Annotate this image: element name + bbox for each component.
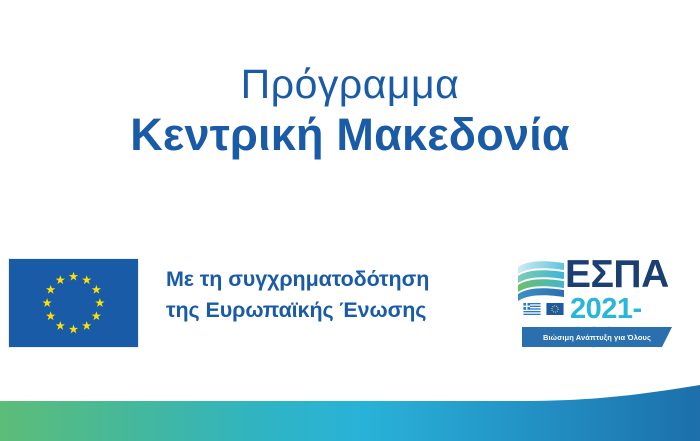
eu-funding-line-2: της Ευρωπαϊκής Ένωσης	[166, 295, 506, 326]
eu-flag-icon	[8, 258, 139, 348]
logo-strip: Με τη συγχρηματοδότηση της Ευρωπαϊκής Έν…	[0, 252, 700, 357]
espa-waves-icon	[516, 259, 566, 303]
espa-logo-mid-row: 2021-2027	[516, 298, 684, 326]
eu-funding-line-1: Με τη συγχρηματοδότηση	[166, 264, 506, 295]
title-line-program: Πρόγραμμα	[0, 62, 700, 106]
title-line-region: Κεντρική Μακεδονία	[0, 110, 700, 160]
bottom-gradient-bar	[0, 385, 700, 441]
espa-tagline-text: Βιώσιμη Ανάπτυξη για Όλους	[522, 327, 672, 347]
espa-logo: ΕΣΠΑ	[516, 252, 684, 352]
espa-wordmark: ΕΣΠΑ	[565, 255, 669, 294]
greece-flag-icon	[522, 302, 542, 316]
eu-funding-text: Με τη συγχρηματοδότηση της Ευρωπαϊκής Έν…	[166, 264, 506, 325]
eu-mini-flag-icon	[545, 302, 565, 316]
mini-flags-group	[522, 302, 565, 316]
espa-tagline-banner: Βιώσιμη Ανάπτυξη για Όλους	[522, 327, 672, 347]
espa-program-banner: Πρόγραμμα Κεντρική Μακεδονία	[0, 0, 700, 441]
page-title: Πρόγραμμα Κεντρική Μακεδονία	[0, 62, 700, 161]
